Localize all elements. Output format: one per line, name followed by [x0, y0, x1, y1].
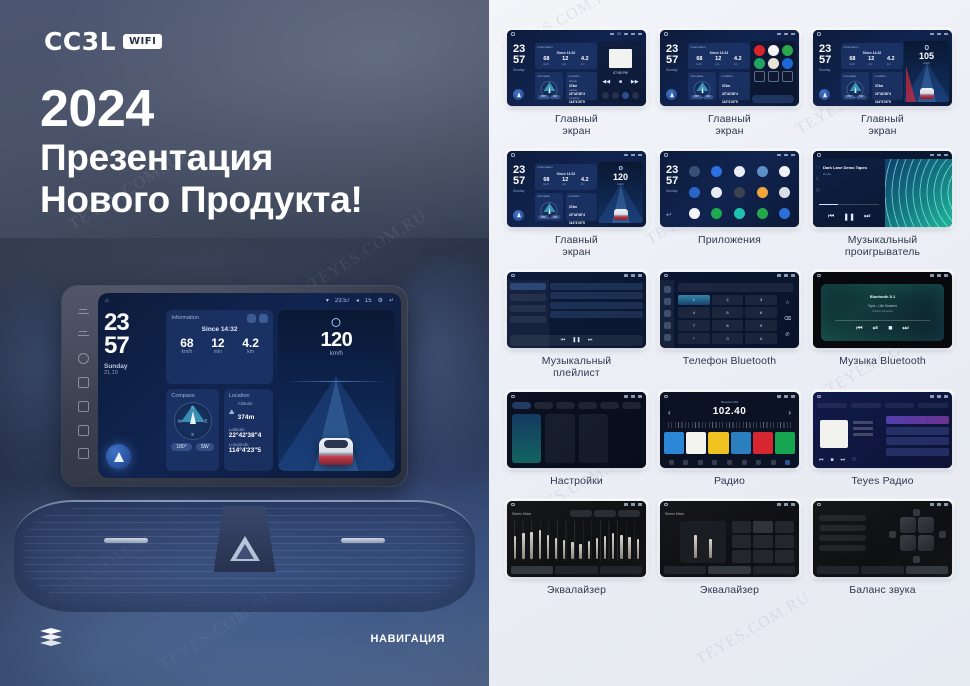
scan-icon[interactable]	[742, 460, 747, 465]
eq-slider[interactable]	[694, 535, 697, 558]
caption-line2: экран	[555, 246, 598, 258]
information-title: Information	[844, 45, 859, 49]
dial-key-8[interactable]: 8	[712, 320, 744, 331]
eq-slider[interactable]	[628, 537, 630, 559]
music-visualizer	[885, 159, 952, 227]
shuffle-icon[interactable]	[602, 92, 609, 99]
seat-rear-left[interactable]	[900, 535, 916, 551]
tab-sub[interactable]	[555, 566, 597, 574]
tab-wifi[interactable]	[512, 402, 531, 409]
search-icon[interactable]	[664, 310, 671, 317]
clock-date: Sunday	[513, 68, 525, 73]
eq-slider[interactable]	[522, 533, 524, 558]
dial-key-2[interactable]: 2	[712, 295, 744, 306]
thumbnail-caption: Главный экран	[555, 113, 598, 138]
sidebar-item-albums[interactable]	[510, 305, 546, 312]
seat-rear-right[interactable]	[918, 535, 934, 551]
longitude-value: 114°4'23"5	[722, 100, 738, 104]
eq-slider[interactable]	[579, 544, 581, 559]
tab-apps[interactable]	[578, 402, 597, 409]
preset-dance[interactable]	[775, 535, 794, 548]
gallery-item[interactable]: Stereo Mixer	[503, 501, 650, 609]
tab-fade[interactable]	[753, 566, 795, 574]
eq-title: Stereo Mixer	[512, 512, 531, 516]
thumbnail-caption: Главный экран	[861, 113, 904, 138]
playlist-icon[interactable]	[622, 92, 629, 99]
favorite-icon[interactable]: ☆	[785, 300, 789, 306]
phone-number-field[interactable]	[678, 283, 793, 292]
tab-sub[interactable]	[861, 566, 903, 574]
next-track-icon[interactable]: ▶▶	[631, 79, 639, 85]
compass-card[interactable]: Compass 180°SW	[535, 193, 563, 221]
app-icon-usb-equalizer[interactable]	[734, 187, 745, 198]
caption-line1: Teyes Радио	[851, 475, 913, 487]
preset-5[interactable]	[753, 432, 773, 454]
next-track-icon[interactable]: ⏭	[864, 213, 870, 221]
app-icon-play[interactable]	[754, 71, 765, 82]
dial-key-9[interactable]: 9	[745, 320, 777, 331]
thumbnail-caption: Эквалайзер	[700, 584, 759, 596]
screenshot-thumbnail[interactable]: Receiver FM ‹ › 102.40	[660, 392, 799, 468]
eq-slider[interactable]	[555, 538, 557, 559]
volume-icon	[624, 33, 628, 36]
stat-item: 68km/h	[543, 57, 549, 66]
eq-slider[interactable]	[604, 536, 606, 559]
drive-view-widget[interactable]: 105 km/h	[904, 41, 949, 102]
app-icon-google[interactable]	[689, 208, 700, 219]
wifi-icon	[930, 274, 934, 277]
playback-controls[interactable]: ⏮ ■ ⏭ ♡	[819, 457, 857, 463]
preset-custom[interactable]	[775, 550, 794, 563]
app-icon-maps[interactable]	[711, 208, 722, 219]
back-icon	[791, 395, 795, 398]
app-icon-radio[interactable]	[779, 208, 790, 219]
list-item[interactable]	[886, 427, 949, 435]
contacts-icon[interactable]	[664, 298, 671, 305]
gallery-item[interactable]: ♡ ≡ ◷ Dark Lane Demo Tapes Drake ⏮ ❚❚ ⏭	[809, 151, 956, 272]
screenshot-thumbnail[interactable]: 23 57 Sunday ↵	[660, 151, 799, 227]
gallery-item[interactable]: Bluetooth 5.1 Topic - Like Summer Coldes…	[809, 272, 956, 393]
next-track-icon[interactable]: ⏭	[902, 325, 908, 333]
eq-slider[interactable]	[547, 535, 549, 559]
balance-presets[interactable]	[819, 515, 866, 569]
balance-down-button[interactable]	[913, 556, 920, 563]
call-icon[interactable]: ✆	[785, 332, 789, 338]
eq-slider[interactable]	[514, 536, 516, 558]
app-icon-gallery[interactable]	[779, 187, 790, 198]
preset-3[interactable]	[708, 432, 728, 454]
location-card[interactable]: Location 374m 22°42'38"4 114°4'23"5	[719, 72, 750, 100]
gallery-item[interactable]: Настройки	[503, 392, 650, 500]
wifi-icon	[777, 154, 781, 157]
dial-key-4[interactable]: 4	[678, 307, 710, 318]
preset-all[interactable]	[819, 545, 866, 551]
backspace-icon[interactable]: ⌫	[784, 316, 791, 322]
wifi-icon	[930, 33, 934, 36]
preset-2[interactable]	[686, 432, 706, 454]
app-icon-usb[interactable]	[689, 166, 700, 177]
band-button[interactable]	[669, 460, 674, 465]
eq-slider[interactable]	[709, 539, 712, 558]
preset-classic[interactable]	[753, 521, 772, 534]
gallery-item[interactable]: 23 57 Sunday Information Since 14:32 68k…	[503, 151, 650, 272]
stat-item: 12min	[562, 178, 568, 187]
balance-pad[interactable]	[900, 517, 934, 551]
home-icon	[511, 274, 515, 278]
playback-controls[interactable]: ⏮ ⏯ ■ ⏭	[821, 325, 944, 333]
information-title: Information	[691, 45, 706, 49]
stat-item: 4.2km	[581, 57, 589, 66]
wifi-icon	[777, 274, 781, 277]
eq-tabs[interactable]	[511, 566, 642, 574]
drive-view-widget[interactable]: 120 km/h	[598, 162, 643, 223]
compass-title: Compass	[538, 194, 551, 198]
pause-icon[interactable]: ❚❚	[572, 337, 580, 343]
app-icon-grid[interactable]	[768, 71, 779, 82]
app-icon-chrome[interactable]	[768, 45, 779, 56]
home-icon	[664, 395, 668, 399]
back-icon[interactable]: ↵	[666, 211, 672, 219]
eq-icon[interactable]	[712, 460, 717, 465]
app-icon-gallery[interactable]	[768, 58, 779, 69]
pause-icon[interactable]: ❚❚	[843, 213, 855, 221]
app-icon-youtube[interactable]	[754, 45, 765, 56]
prev-track-icon[interactable]: ⏮	[856, 325, 862, 333]
next-track-icon[interactable]: ⏭	[841, 457, 846, 463]
phone-sidebar[interactable]	[660, 280, 674, 348]
gear-icon	[784, 395, 788, 398]
pause-icon[interactable]: ■	[619, 79, 622, 85]
navigation-button[interactable]	[666, 89, 677, 100]
compass-card[interactable]: Compass 180°SW	[535, 72, 563, 100]
navigation-button[interactable]	[513, 210, 524, 221]
list-icon[interactable]	[698, 460, 703, 465]
navigation-button[interactable]	[819, 89, 830, 100]
preset-stations[interactable]	[664, 432, 795, 454]
tab-favorites[interactable]	[885, 403, 915, 408]
lyrics-icon[interactable]: ≡	[816, 176, 820, 181]
tab-system[interactable]	[600, 402, 619, 409]
eq-slider[interactable]	[530, 532, 532, 559]
balance-left-button[interactable]	[889, 531, 896, 538]
screenshot-thumbnail[interactable]: Bluetooth 5.1 Topic - Like Summer Coldes…	[813, 272, 952, 348]
speed-unit: km/h	[904, 61, 949, 65]
gallery-item[interactable]: 23 57 Sunday Information Since 14:32 68k…	[809, 30, 956, 151]
tab-eq[interactable]	[511, 566, 553, 574]
tab-about[interactable]	[622, 402, 641, 409]
screenshot-thumbnail[interactable]	[813, 501, 952, 577]
gear-icon	[631, 274, 635, 277]
app-icon-bluetooth[interactable]	[711, 166, 722, 177]
dial-key-0[interactable]: 0	[712, 333, 744, 344]
stop-icon[interactable]: ■	[888, 325, 892, 333]
dial-pad[interactable]: 123 456 789 *0#	[678, 295, 777, 344]
gear-icon	[631, 503, 635, 506]
information-card[interactable]: Information Since 14:32 68km/h 12min 4.2…	[688, 43, 750, 69]
app-icon-mail[interactable]	[782, 58, 793, 69]
compass-heading: 180°	[691, 95, 701, 99]
home-icon	[511, 395, 515, 399]
list-item[interactable]	[886, 448, 949, 456]
back-icon	[791, 274, 795, 277]
preset-4[interactable]	[731, 432, 751, 454]
dial-key-star[interactable]: *	[678, 333, 710, 344]
eq-slider[interactable]	[612, 533, 614, 558]
balance-right-button[interactable]	[939, 531, 946, 538]
preset-pop[interactable]	[732, 521, 751, 534]
location-card[interactable]: Location 374m 22°42'38"4 114°4'23"5	[872, 72, 903, 100]
stereo-icon[interactable]	[771, 460, 776, 465]
preset-rear[interactable]	[819, 535, 866, 541]
music-side-actions[interactable]: ♡ ≡ ◷	[816, 165, 820, 192]
app-icon-keyboard-music[interactable]	[734, 166, 745, 177]
speed-value: 120	[598, 172, 643, 182]
screenshot-thumbnail[interactable]: ♡ ≡ ◷ Dark Lane Demo Tapes Drake ⏮ ❚❚ ⏭	[813, 151, 952, 227]
gear-icon	[937, 274, 941, 277]
app-icon-music-player[interactable]	[734, 208, 745, 219]
teyes-radio-tabs[interactable]	[817, 401, 948, 409]
dial-key-1[interactable]: 1	[678, 295, 710, 306]
information-card[interactable]: Information Since 14:32 68km/h 12min 4.2…	[535, 43, 597, 69]
favorite-icon[interactable]: ♡	[852, 457, 856, 463]
screenshot-thumbnail[interactable]: ⏮ ❚❚ ⏭	[507, 272, 646, 348]
gallery-item[interactable]: Receiver FM ‹ › 102.40	[656, 392, 803, 500]
balance-up-button[interactable]	[913, 509, 920, 516]
list-item	[550, 302, 643, 309]
loc-icon[interactable]	[756, 460, 761, 465]
wifi-icon	[610, 33, 614, 36]
settings-tabs[interactable]	[512, 402, 641, 409]
screenshot-thumbnail[interactable]: ⏮ ■ ⏭ ♡	[813, 392, 952, 468]
preset-vocal[interactable]	[753, 535, 772, 548]
tab-sound[interactable]	[534, 402, 553, 409]
tab-eq[interactable]	[664, 566, 706, 574]
music-artist: Drake	[823, 172, 831, 176]
clock-hours: 23	[513, 44, 525, 54]
preset-front[interactable]	[819, 525, 866, 531]
repeat-icon[interactable]	[612, 92, 619, 99]
seat-front-right[interactable]	[918, 517, 934, 533]
tab-fade[interactable]	[906, 566, 948, 574]
settings-icon[interactable]	[785, 460, 790, 465]
eq-slider[interactable]	[596, 538, 598, 558]
location-card[interactable]: Location Altitude 374m Latitude 22°42'38…	[566, 72, 597, 100]
app-icon-chrome[interactable]	[689, 187, 700, 198]
album-art	[820, 420, 848, 448]
frequency-scale[interactable]	[668, 422, 791, 428]
home-icon	[817, 395, 821, 399]
preset-6[interactable]	[775, 432, 795, 454]
compass-direction: SW	[551, 95, 560, 99]
next-track-icon[interactable]: ⏭	[588, 337, 593, 343]
sidebar-item-tracks[interactable]	[510, 283, 546, 290]
speed-value: 105	[904, 51, 949, 61]
wifi-icon	[930, 503, 934, 506]
prev-track-icon[interactable]: ◀◀	[602, 79, 610, 85]
thumbnail-caption: Телефон Bluetooth	[683, 355, 776, 367]
preset-rock[interactable]	[732, 535, 751, 548]
prev-track-icon[interactable]: ⏮	[828, 213, 834, 221]
timer-icon[interactable]: ◷	[816, 187, 820, 192]
ego-car-icon	[920, 88, 934, 99]
dial-key-5[interactable]: 5	[712, 307, 744, 318]
information-card[interactable]: Information Since 14:32 68km/h 12min 4.2…	[535, 164, 597, 190]
tile-more[interactable]	[579, 414, 608, 463]
progress-bar[interactable]	[835, 320, 930, 321]
clock-minutes: 57	[666, 55, 678, 65]
stat-unit: km/h	[543, 183, 549, 186]
station-list[interactable]	[886, 416, 949, 464]
caption-line2: плейлист	[542, 367, 612, 379]
dial-key-3[interactable]: 3	[745, 295, 777, 306]
thumbnail-grid: 23 23 57 Sunday Information Since 14:32 …	[503, 30, 956, 609]
app-icon-calculator[interactable]	[757, 166, 768, 177]
music-widget[interactable]: 07:50 PM ◀◀■▶▶	[598, 41, 643, 102]
eq-slider[interactable]	[588, 541, 590, 558]
radio-toolbar[interactable]	[664, 459, 795, 466]
sidebar-item-artists[interactable]	[510, 294, 546, 301]
tab-fade[interactable]	[600, 566, 642, 574]
tab-recent[interactable]	[918, 403, 948, 408]
dialpad-icon[interactable]	[664, 286, 671, 293]
rds-icon[interactable]	[727, 460, 732, 465]
navigation-button[interactable]	[513, 89, 524, 100]
preset-button[interactable]	[570, 510, 592, 517]
app-drawer[interactable]	[750, 41, 796, 102]
back-icon	[944, 274, 948, 277]
app-icon-maps[interactable]	[782, 45, 793, 56]
eq-slider[interactable]	[563, 540, 565, 559]
information-card[interactable]: Information Since 14:32 68km/h 12min 4.2…	[841, 43, 903, 69]
now-playing-bar[interactable]: ⏮ ❚❚ ⏭	[510, 335, 643, 346]
caption-line2: экран	[555, 125, 598, 137]
screenshot-thumbnail[interactable]: 23 57 Sunday Information Since 14:32 68k…	[507, 151, 646, 227]
app-icon-more[interactable]	[782, 71, 793, 82]
sub-sliders[interactable]	[680, 521, 726, 563]
clock-hours: 23	[666, 165, 678, 175]
compass-card[interactable]: Compass 180°SW	[841, 72, 869, 100]
screenshot-thumbnail[interactable]: 123 456 789 *0# ☆ ⌫ ✆	[660, 272, 799, 348]
preset-driver[interactable]	[819, 515, 866, 521]
information-since: Since 14:32	[535, 51, 597, 55]
caption-line1: Эквалайзер	[700, 584, 759, 596]
stat-value: 12	[562, 57, 568, 63]
screenshot-thumbnail[interactable]: 23 57 Sunday Information Since 14:32 68k…	[660, 30, 799, 106]
play-pause-icon[interactable]: ⏯	[873, 325, 879, 333]
playback-controls[interactable]: ⏮ ❚❚ ⏭	[813, 213, 885, 221]
eq-slider[interactable]	[539, 530, 541, 559]
eq-presets[interactable]	[570, 510, 640, 517]
sidebar-item-folders[interactable]	[510, 316, 546, 323]
screenshot-thumbnail[interactable]	[507, 392, 646, 468]
eq-icon[interactable]	[632, 92, 639, 99]
gallery-item[interactable]: Stereo Mixer	[656, 501, 803, 609]
preset-bass[interactable]	[732, 550, 751, 563]
call-history-icon[interactable]	[664, 322, 671, 329]
dial-key-hash[interactable]: #	[745, 333, 777, 344]
compass-card[interactable]: Compass 180°SW	[688, 72, 716, 100]
eq-sliders[interactable]	[514, 523, 639, 559]
preset-soft[interactable]	[753, 550, 772, 563]
gallery-item[interactable]: 23 23 57 Sunday Information Since 14:32 …	[503, 30, 650, 151]
tile-carplay[interactable]	[545, 414, 574, 463]
settings-tiles[interactable]	[512, 414, 641, 463]
tab-all[interactable]	[817, 403, 847, 408]
eq-slider[interactable]	[637, 539, 639, 558]
search-icon[interactable]	[683, 460, 688, 465]
tab-genres[interactable]	[851, 403, 881, 408]
screenshot-thumbnail[interactable]: 23 57 Sunday Information Since 14:32 68k…	[813, 30, 952, 106]
stat-unit: km/h	[849, 63, 855, 66]
app-grid[interactable]	[684, 162, 795, 223]
back-icon	[791, 33, 795, 36]
tab-sub[interactable]	[708, 566, 750, 574]
eq-tabs[interactable]	[817, 566, 948, 574]
gallery-item[interactable]: ⏮ ❚❚ ⏭ Музыкальный плейлист	[503, 272, 650, 393]
favorite-icon[interactable]: ♡	[816, 165, 820, 170]
eq-tabs[interactable]	[664, 566, 795, 574]
gallery-item[interactable]: 123 456 789 *0# ☆ ⌫ ✆ Телефон Bluetoot	[656, 272, 803, 393]
radio-band-label: Receiver FM	[660, 400, 799, 404]
screenshot-thumbnail[interactable]: Stereo Mixer	[507, 501, 646, 577]
clock-date: Sunday	[513, 189, 525, 194]
location-card[interactable]: Location 374m 22°42'38"4 114°4'23"5	[566, 193, 597, 221]
settings-icon[interactable]	[664, 334, 671, 341]
gallery-item[interactable]: 23 57 Sunday ↵	[656, 151, 803, 272]
phone-actions[interactable]: ☆ ⌫ ✆	[780, 295, 795, 344]
tab-eq[interactable]	[817, 566, 859, 574]
altitude-value: 374m	[569, 205, 577, 209]
music-track-title: Dark Lane Demo Tapes	[823, 165, 867, 170]
app-icon-spotify[interactable]	[754, 58, 765, 69]
dial-key-6[interactable]: 6	[745, 307, 777, 318]
drawer-dock[interactable]	[752, 95, 794, 103]
prev-track-icon[interactable]: ⏮	[819, 457, 824, 463]
app-icon-camera[interactable]	[779, 166, 790, 177]
tile-wifi[interactable]	[512, 414, 541, 463]
preset-1[interactable]	[664, 432, 684, 454]
screenshot-thumbnail[interactable]: 23 23 57 Sunday Information Since 14:32 …	[507, 30, 646, 106]
app-icon-play-store[interactable]	[757, 208, 768, 219]
hero-panel: TEYES.COM.RU TEYES.COM.RU TEYES.COM.RU T…	[0, 0, 489, 686]
list-item[interactable]	[886, 437, 949, 445]
tab-display[interactable]	[556, 402, 575, 409]
stop-icon[interactable]: ■	[831, 457, 834, 463]
music-info-pane: ♡ ≡ ◷ Dark Lane Demo Tapes Drake ⏮ ❚❚ ⏭	[813, 159, 885, 227]
longitude-value: 114°4'23"5	[569, 221, 585, 225]
preset-grid[interactable]	[732, 521, 794, 563]
app-icon-clock[interactable]	[711, 187, 722, 198]
dial-key-7[interactable]: 7	[678, 320, 710, 331]
gallery-item[interactable]: ⏮ ■ ⏭ ♡ Teyes Радио	[809, 392, 956, 500]
seat-front-left[interactable]	[900, 517, 916, 533]
list-item[interactable]	[886, 416, 949, 424]
progress-bar[interactable]	[819, 204, 879, 205]
eq-slider[interactable]	[620, 535, 622, 559]
gallery-item[interactable]: Баланс звука	[809, 501, 956, 609]
app-icon-filemanager[interactable]	[757, 187, 768, 198]
preset-button[interactable]	[594, 510, 616, 517]
headline-line2: Нового Продукта!	[40, 179, 363, 221]
preset-button[interactable]	[618, 510, 640, 517]
radio-frequency: 102.40	[660, 406, 799, 417]
track-list[interactable]	[550, 283, 643, 334]
eq-slider[interactable]	[571, 542, 573, 559]
gallery-item[interactable]: 23 57 Sunday Information Since 14:32 68k…	[656, 30, 803, 151]
preset-jazz[interactable]	[775, 521, 794, 534]
prev-track-icon[interactable]: ⏮	[561, 337, 566, 343]
screenshot-thumbnail[interactable]: Stereo Mixer	[660, 501, 799, 577]
